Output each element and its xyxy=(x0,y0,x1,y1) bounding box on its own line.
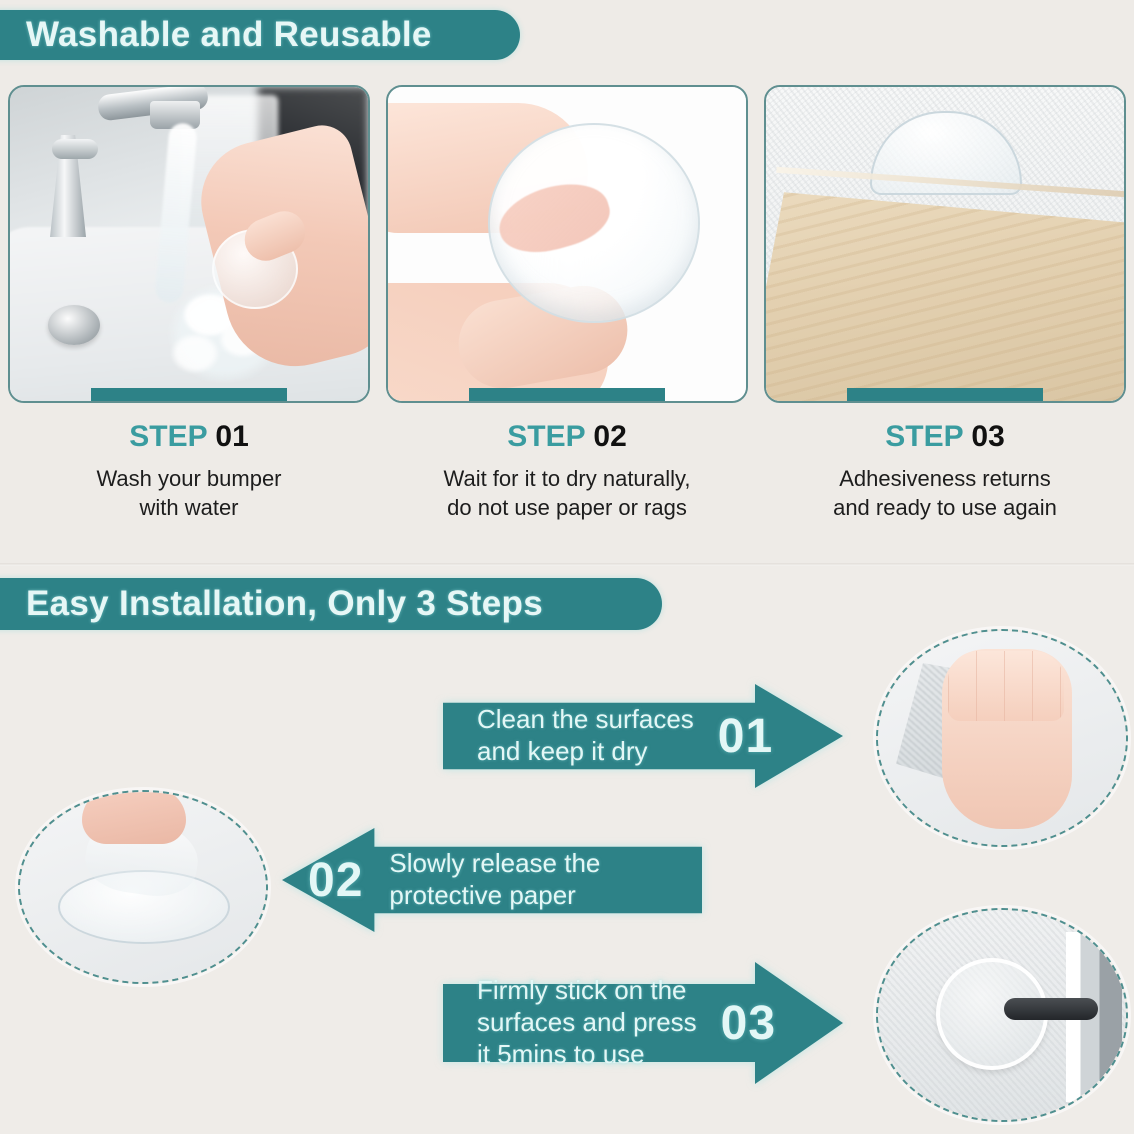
arrow-content: Clean the surfaces and keep it dry 01 xyxy=(443,684,843,788)
easy-installation-banner: Easy Installation, Only 3 Steps xyxy=(0,578,662,630)
photo-card-step-02 xyxy=(386,85,748,403)
photo-bumper-on-wall-image xyxy=(766,87,1124,401)
easy-installation-banner-title: Easy Installation, Only 3 Steps xyxy=(26,584,543,624)
washable-reusable-banner-title: Washable and Reusable xyxy=(26,15,432,55)
fingers xyxy=(948,651,1064,721)
photo-faucet-washing-image xyxy=(10,87,368,401)
step-description: Wash your bumper with water xyxy=(8,465,370,522)
photo-accent-bar xyxy=(91,388,287,401)
photo-accent-bar xyxy=(847,388,1043,401)
photo-peeling-film-image xyxy=(20,792,266,982)
arrow-text: Firmly stick on the surfaces and press i… xyxy=(477,975,697,1070)
faucet-handle xyxy=(52,139,98,159)
step-label: STEP xyxy=(129,420,207,453)
install-photo-01 xyxy=(876,629,1128,847)
step-caption-02: STEP 02 Wait for it to dry naturally, do… xyxy=(386,420,748,522)
photo-accent-bar xyxy=(469,388,665,401)
photo-holding-bumper-image xyxy=(388,87,746,401)
arrow-step-number: 03 xyxy=(721,996,776,1051)
install-photo-02 xyxy=(18,790,268,984)
sink-drain-cap xyxy=(48,305,100,345)
photo-card-step-01 xyxy=(8,85,370,403)
step-number: 01 xyxy=(215,420,248,453)
step-label: STEP xyxy=(507,420,585,453)
photo-hand-wiping-wall-image xyxy=(878,631,1126,845)
step-number: 03 xyxy=(971,420,1004,453)
arrow-content: 02 Slowly release the protective paper xyxy=(282,828,702,932)
step-caption-03: STEP 03 Adhesiveness returns and ready t… xyxy=(764,420,1126,522)
step-heading: STEP 03 xyxy=(764,420,1126,454)
step-heading: STEP 02 xyxy=(386,420,748,454)
photo-card-step-03 xyxy=(764,85,1126,403)
arrow-content: Firmly stick on the surfaces and press i… xyxy=(443,962,843,1084)
washable-photo-row xyxy=(8,85,1126,403)
arrow-step-number: 01 xyxy=(718,709,773,764)
door-handle xyxy=(1004,998,1098,1020)
arrow-text: Slowly release the protective paper xyxy=(389,848,600,911)
step-description: Wait for it to dry naturally, do not use… xyxy=(386,465,748,522)
finger-peeling xyxy=(82,792,186,844)
install-arrow-03: Firmly stick on the surfaces and press i… xyxy=(443,962,843,1084)
step-caption-01: STEP 01 Wash your bumper with water xyxy=(8,420,370,522)
arrow-text: Clean the surfaces and keep it dry xyxy=(477,704,694,767)
step-label: STEP xyxy=(885,420,963,453)
washable-step-captions: STEP 01 Wash your bumper with water STEP… xyxy=(8,420,1126,522)
step-number: 02 xyxy=(593,420,626,453)
install-arrow-02: 02 Slowly release the protective paper xyxy=(282,828,702,932)
install-arrow-01: Clean the surfaces and keep it dry 01 xyxy=(443,684,843,788)
install-photo-03 xyxy=(876,908,1128,1122)
photo-door-handle-bumper-image xyxy=(878,910,1126,1120)
washable-reusable-banner: Washable and Reusable xyxy=(0,10,520,60)
step-description: Adhesiveness returns and ready to use ag… xyxy=(764,465,1126,522)
arrow-step-number: 02 xyxy=(308,853,363,908)
washable-reusable-section: STEP 01 Wash your bumper with water STEP… xyxy=(0,0,1134,566)
step-heading: STEP 01 xyxy=(8,420,370,454)
